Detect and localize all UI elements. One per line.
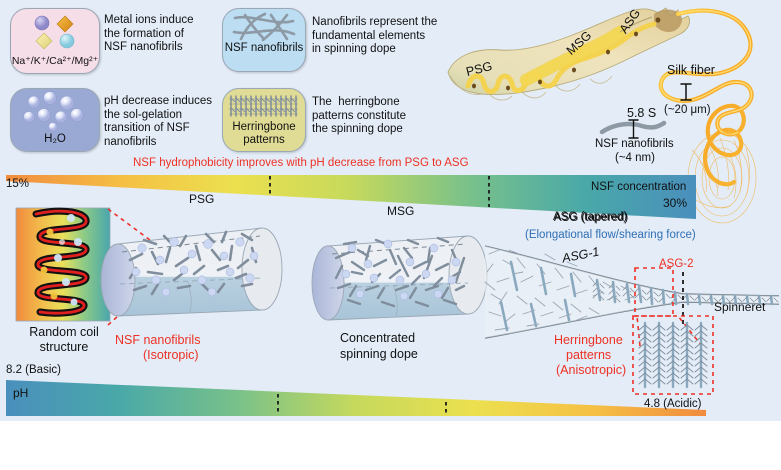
ph-bar xyxy=(6,378,706,418)
card-herringbone: Herringbone patterns xyxy=(222,88,306,152)
psg-cylinder-caption-line2: (Isotropic) xyxy=(143,348,199,363)
silk-fiber-label: Silk fiber xyxy=(667,63,715,78)
card-herringbone-caption: The herringbone patterns constitute the … xyxy=(312,96,406,137)
nanofibril-strand-icon xyxy=(600,118,666,140)
asg-zone2-label: ASG-2 xyxy=(659,258,694,272)
water-droplets-icon xyxy=(23,93,89,133)
ph-left-value: 8.2 (Basic) xyxy=(6,364,61,378)
concentration-left-value: 15% xyxy=(6,178,29,192)
herringbone-inset-line1: Herringbone xyxy=(554,333,623,348)
psg-cylinder xyxy=(100,222,300,324)
concentration-right-title: NSF concentration xyxy=(591,181,686,195)
card-water: H₂O xyxy=(10,88,100,152)
ph-bar-label: pH xyxy=(13,386,28,400)
silk-fiber-caliper-icon xyxy=(678,81,696,103)
msg-cylinder-caption-line2: spinning dope xyxy=(340,347,418,362)
herringbone-inset-line3: (Anisotropic) xyxy=(556,363,626,378)
ph-right-value: 4.8 (Acidic) xyxy=(644,398,702,412)
concentration-right-value: 30% xyxy=(663,196,687,210)
card-herringbone-label: Herringbone patterns xyxy=(223,121,305,147)
crossed-fibrils-icon xyxy=(231,12,297,42)
card-nsf-nanofibrils-caption: Nanofibrils represent the fundamental el… xyxy=(312,16,437,57)
segment-label-msg: MSG xyxy=(387,204,414,218)
card-nsf-nanofibrils: NSF nanofibrils xyxy=(222,8,306,72)
card-metal-ions-label: Na⁺/K⁺/Ca²⁺/Mg²⁺ xyxy=(11,55,99,67)
random-coil-structure-graphic xyxy=(16,208,110,321)
ions-icon xyxy=(29,13,85,55)
asg-taper-title: ASG (tapered) xyxy=(554,212,628,226)
herringbone-icon xyxy=(229,95,299,117)
card-water-caption: pH decrease induces the sol-gelation tra… xyxy=(104,95,212,149)
msg-cylinder xyxy=(312,228,502,328)
random-coil-caption: Random coil structure xyxy=(18,325,110,355)
msg-cylinder-caption-line1: Concentrated xyxy=(340,331,415,346)
card-nsf-nanofibrils-label: NSF nanofibrils xyxy=(223,42,305,55)
figure-root: Na⁺/K⁺/Ca²⁺/Mg²⁺ Metal ions induce the f… xyxy=(0,0,781,470)
silk-fiber-size: (~20 μm) xyxy=(664,104,711,118)
spinneret-label: Spinneret xyxy=(714,300,765,314)
card-metal-ions: Na⁺/K⁺/Ca²⁺/Mg²⁺ xyxy=(10,8,100,74)
card-water-label: H₂O xyxy=(11,133,99,146)
card-metal-ions-caption: Metal ions induce the formation of NSF n… xyxy=(104,14,194,55)
nanofibril-label: NSF nanofibrils xyxy=(595,138,674,152)
nanofibril-size: (~4 nm) xyxy=(615,152,655,166)
hydrophobicity-headline: NSF hydrophobicity improves with pH decr… xyxy=(133,157,469,171)
herringbone-inset-line2: patterns xyxy=(566,348,611,363)
psg-cylinder-caption-line1: NSF nanofibrils xyxy=(115,333,200,348)
